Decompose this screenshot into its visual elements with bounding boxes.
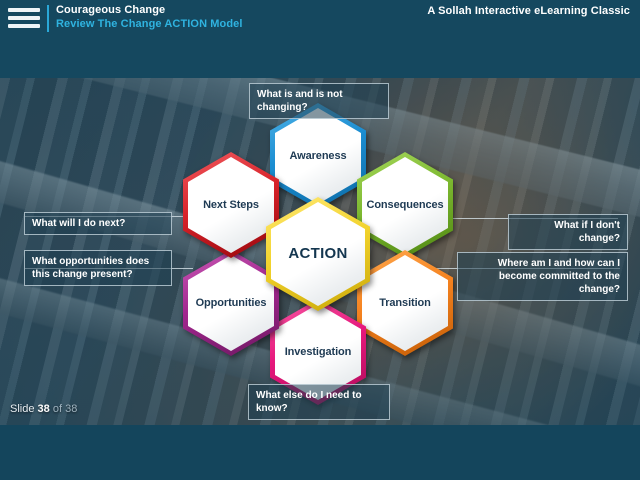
hex-label-awareness: Awareness [286, 150, 351, 162]
callout-opportunities: What opportunities does this change pres… [24, 250, 172, 286]
lesson-subtitle: Review The Change ACTION Model [56, 17, 243, 31]
hex-label-investigation: Investigation [281, 346, 356, 358]
slide-number: 38 [38, 403, 50, 415]
hex-node-next-steps[interactable]: Next Steps [183, 152, 279, 258]
callout-transition: Where am I and how can I become committe… [457, 252, 628, 301]
callout-next-steps: What will I do next? [24, 212, 172, 235]
header-title-block: Courageous Change Review The Change ACTI… [56, 3, 243, 31]
brand-tagline: A Sollah Interactive eLearning Classic [427, 5, 630, 17]
slide-header: Courageous Change Review The Change ACTI… [0, 0, 640, 78]
callout-awareness: What is and is not changing? [249, 83, 389, 119]
hex-node-opportunities[interactable]: Opportunities [183, 250, 279, 356]
slide-counter: Slide 38 of 38 [10, 403, 77, 415]
hex-label-action: ACTION [284, 248, 351, 260]
hex-label-next-steps: Next Steps [199, 199, 263, 211]
hex-node-action-center[interactable]: ACTION [266, 197, 370, 311]
slide-of-label: of [53, 403, 62, 415]
slide-footer [0, 425, 640, 480]
callout-investigation: What else do I need to know? [248, 384, 390, 420]
hamburger-menu-icon[interactable] [8, 6, 40, 30]
hex-label-transition: Transition [375, 297, 435, 309]
slide-total: 38 [65, 403, 77, 415]
hamburger-bar-2 [8, 16, 40, 20]
hamburger-bar-3 [8, 24, 40, 28]
callout-consequences: What if I don't change? [508, 214, 628, 250]
elearning-slide-viewer: Courageous Change Review The Change ACTI… [0, 0, 640, 480]
header-divider [47, 5, 49, 32]
slide-stage: Awareness Consequences Transition [0, 78, 640, 425]
hex-label-opportunities: Opportunities [192, 297, 271, 309]
slide-label: Slide [10, 403, 34, 415]
hex-node-consequences[interactable]: Consequences [357, 152, 453, 258]
hamburger-bar-1 [8, 8, 40, 12]
course-title: Courageous Change [56, 3, 243, 17]
hex-node-transition[interactable]: Transition [357, 250, 453, 356]
hex-label-consequences: Consequences [362, 199, 447, 211]
